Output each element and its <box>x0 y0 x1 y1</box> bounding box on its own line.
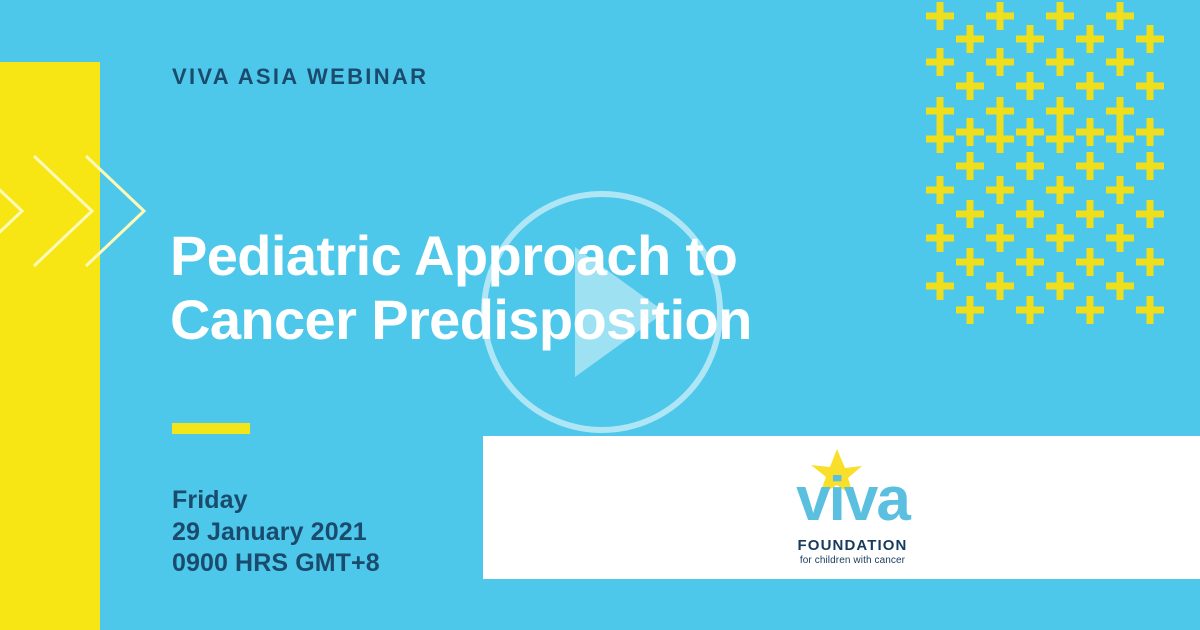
webinar-eyebrow-label: VIVA ASIA WEBINAR <box>172 64 428 90</box>
yellow-accent-bar <box>0 62 100 630</box>
event-time: 0900 HRS GMT+8 <box>172 548 380 580</box>
event-day: Friday <box>172 485 380 517</box>
logo-tagline: for children with cancer <box>785 555 920 566</box>
foundation-label: FOUNDATION <box>785 537 920 554</box>
event-date: 29 January 2021 <box>172 517 380 549</box>
event-datetime-block: Friday 29 January 2021 0900 HRS GMT+8 <box>172 485 380 580</box>
plus-grid-pattern <box>918 0 1176 369</box>
viva-foundation-logo: viva FOUNDATION for children with cancer <box>785 447 920 572</box>
play-button[interactable] <box>479 189 725 435</box>
webinar-promo-slide: VIVA ASIA WEBINAR Pediatric Approach to … <box>0 0 1200 630</box>
chevron-right-triple-icon <box>0 152 170 270</box>
viva-wordmark: viva <box>785 469 920 531</box>
yellow-divider-rule <box>172 423 250 434</box>
